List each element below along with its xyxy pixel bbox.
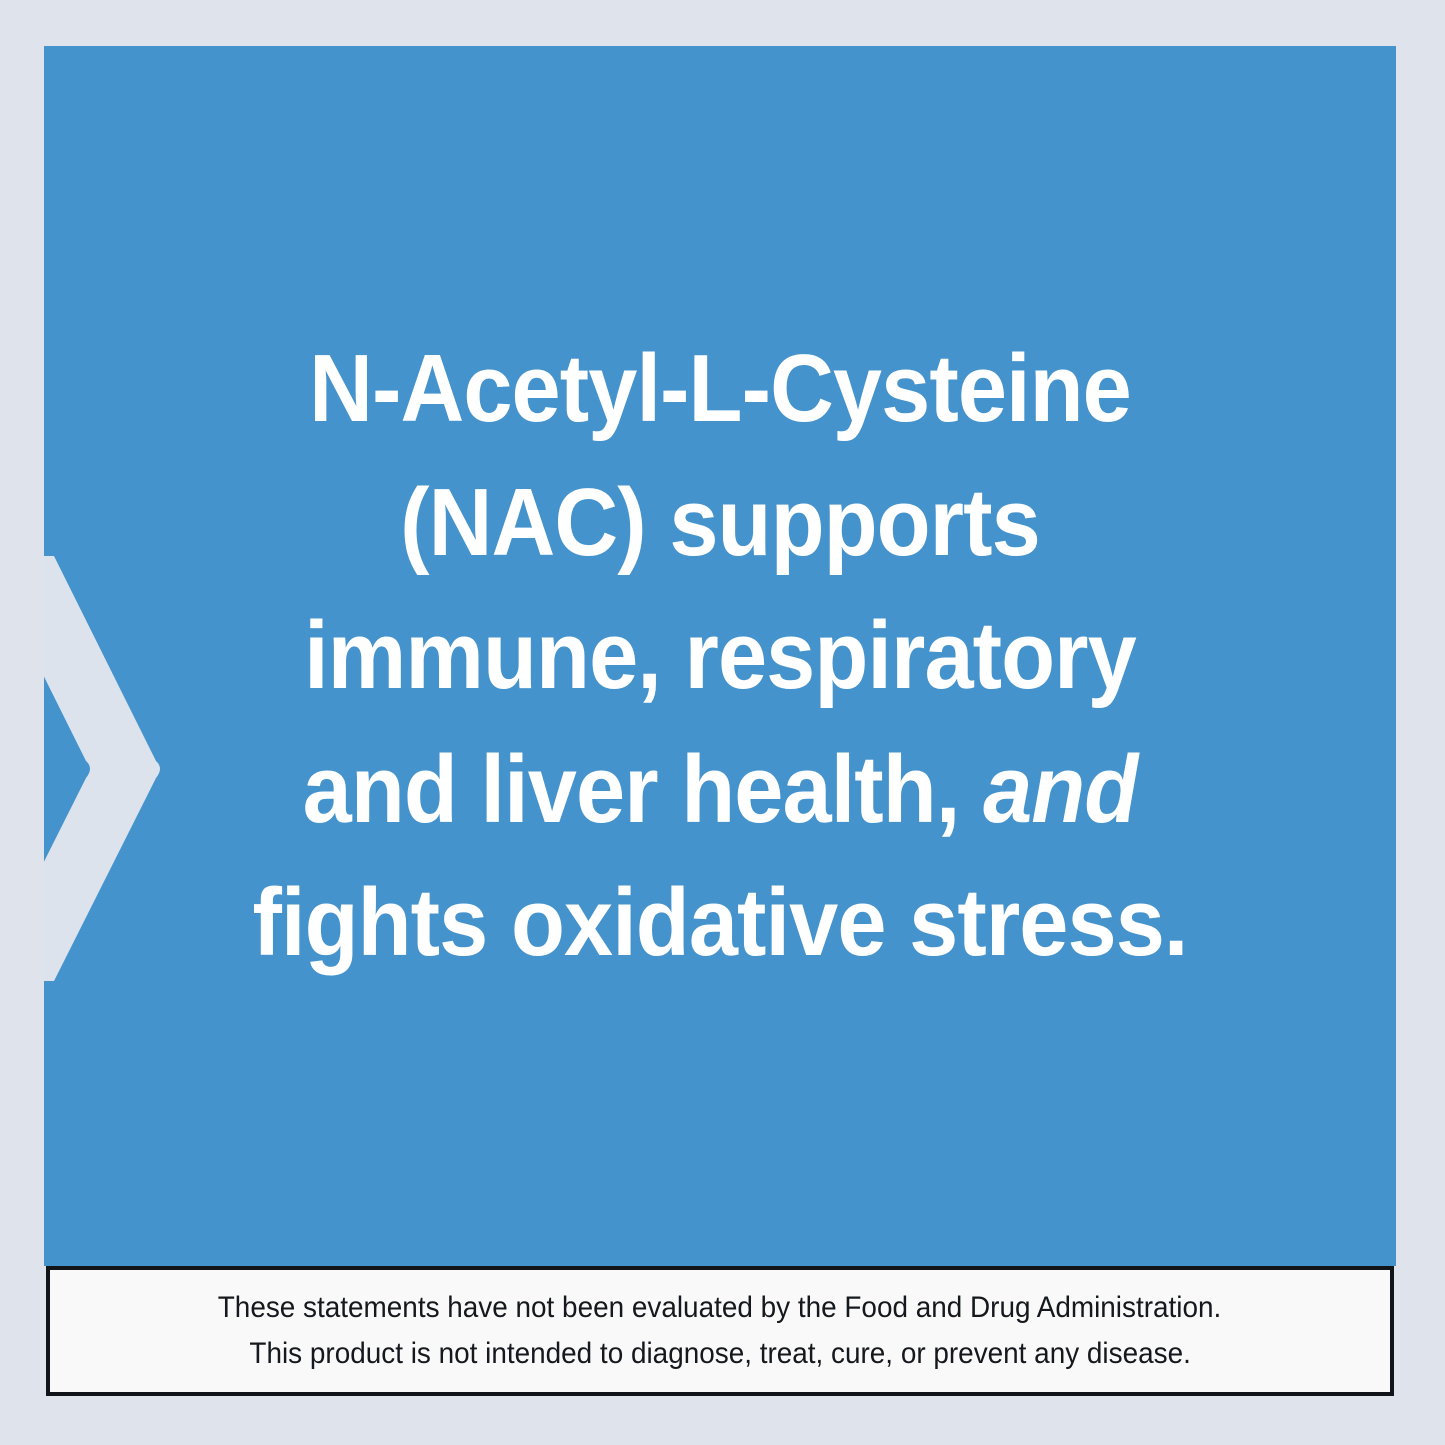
headline-line-2: (NAC) supports <box>400 456 1040 589</box>
headline-line-4-text: and liver health, <box>303 736 983 843</box>
headline-text-block: N-Acetyl-L-Cysteine (NAC) supports immun… <box>98 46 1342 1266</box>
headline-line-3: immune, respiratory <box>304 589 1136 722</box>
headline-line-4-emphasis: and <box>983 736 1137 843</box>
disclaimer-line-1: These statements have not been evaluated… <box>218 1285 1221 1331</box>
headline-line-1: N-Acetyl-L-Cysteine <box>309 322 1131 455</box>
promo-graphic-canvas: N-Acetyl-L-Cysteine (NAC) supports immun… <box>0 0 1445 1445</box>
fda-disclaimer-box: These statements have not been evaluated… <box>46 1266 1394 1396</box>
headline-line-4: and liver health, and <box>303 723 1138 856</box>
headline-line-5: fights oxidative stress. <box>252 856 1187 989</box>
disclaimer-line-2: This product is not intended to diagnose… <box>249 1331 1190 1377</box>
